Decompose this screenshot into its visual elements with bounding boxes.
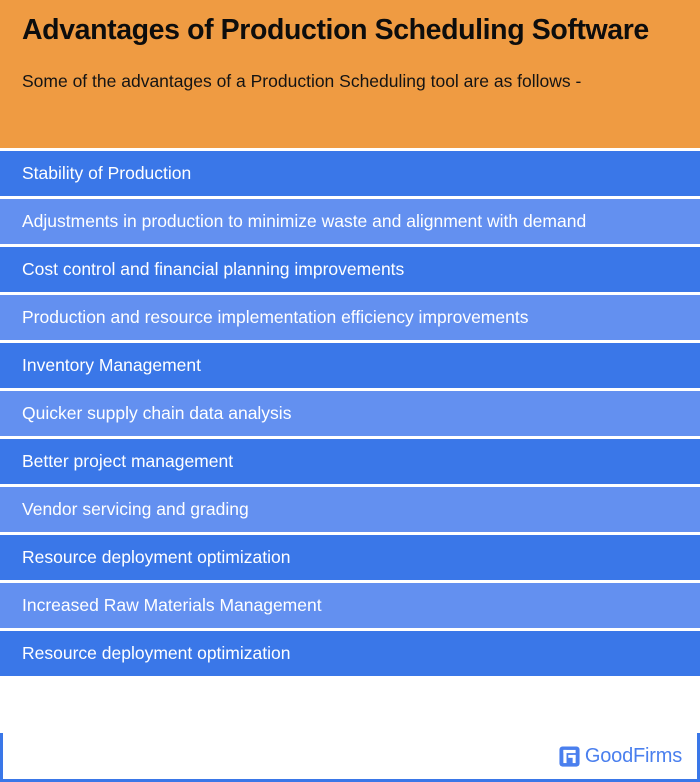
page-title: Advantages of Production Scheduling Soft… bbox=[22, 14, 678, 47]
list-item[interactable]: Vendor servicing and grading bbox=[0, 487, 700, 535]
list-item[interactable]: Increased Raw Materials Management bbox=[0, 583, 700, 631]
list-item[interactable]: Resource deployment optimization bbox=[0, 631, 700, 679]
list-item-label: Stability of Production bbox=[22, 161, 191, 186]
list-item-label: Resource deployment optimization bbox=[22, 545, 290, 570]
advantages-list: Stability of Production Adjustments in p… bbox=[0, 148, 700, 733]
list-item[interactable]: Cost control and financial planning impr… bbox=[0, 247, 700, 295]
list-item[interactable]: Quicker supply chain data analysis bbox=[0, 391, 700, 439]
list-item-label: Resource deployment optimization bbox=[22, 641, 290, 666]
brand-logo[interactable]: GoodFirms bbox=[559, 746, 682, 767]
header-subtitle: Some of the advantages of a Production S… bbox=[22, 69, 647, 94]
list-item[interactable]: Stability of Production bbox=[0, 151, 700, 199]
list-item-label: Quicker supply chain data analysis bbox=[22, 401, 291, 426]
list-item-label: Production and resource implementation e… bbox=[22, 305, 528, 330]
list-item[interactable]: Production and resource implementation e… bbox=[0, 295, 700, 343]
list-item-label: Vendor servicing and grading bbox=[22, 497, 249, 522]
list-item[interactable]: Adjustments in production to minimize wa… bbox=[0, 199, 700, 247]
footer: GoodFirms bbox=[0, 733, 700, 782]
infographic-card: Advantages of Production Scheduling Soft… bbox=[0, 0, 700, 782]
list-item-label: Increased Raw Materials Management bbox=[22, 593, 322, 618]
list-item[interactable]: Resource deployment optimization bbox=[0, 535, 700, 583]
list-item[interactable]: Inventory Management bbox=[0, 343, 700, 391]
goodfirms-logo-icon bbox=[559, 746, 580, 767]
list-item-label: Better project management bbox=[22, 449, 233, 474]
list-item-label: Cost control and financial planning impr… bbox=[22, 257, 404, 282]
list-item-label: Adjustments in production to minimize wa… bbox=[22, 209, 586, 234]
list-item[interactable]: Better project management bbox=[0, 439, 700, 487]
list-item-label: Inventory Management bbox=[22, 353, 201, 378]
header: Advantages of Production Scheduling Soft… bbox=[0, 0, 700, 148]
brand-name: GoodFirms bbox=[585, 746, 682, 766]
